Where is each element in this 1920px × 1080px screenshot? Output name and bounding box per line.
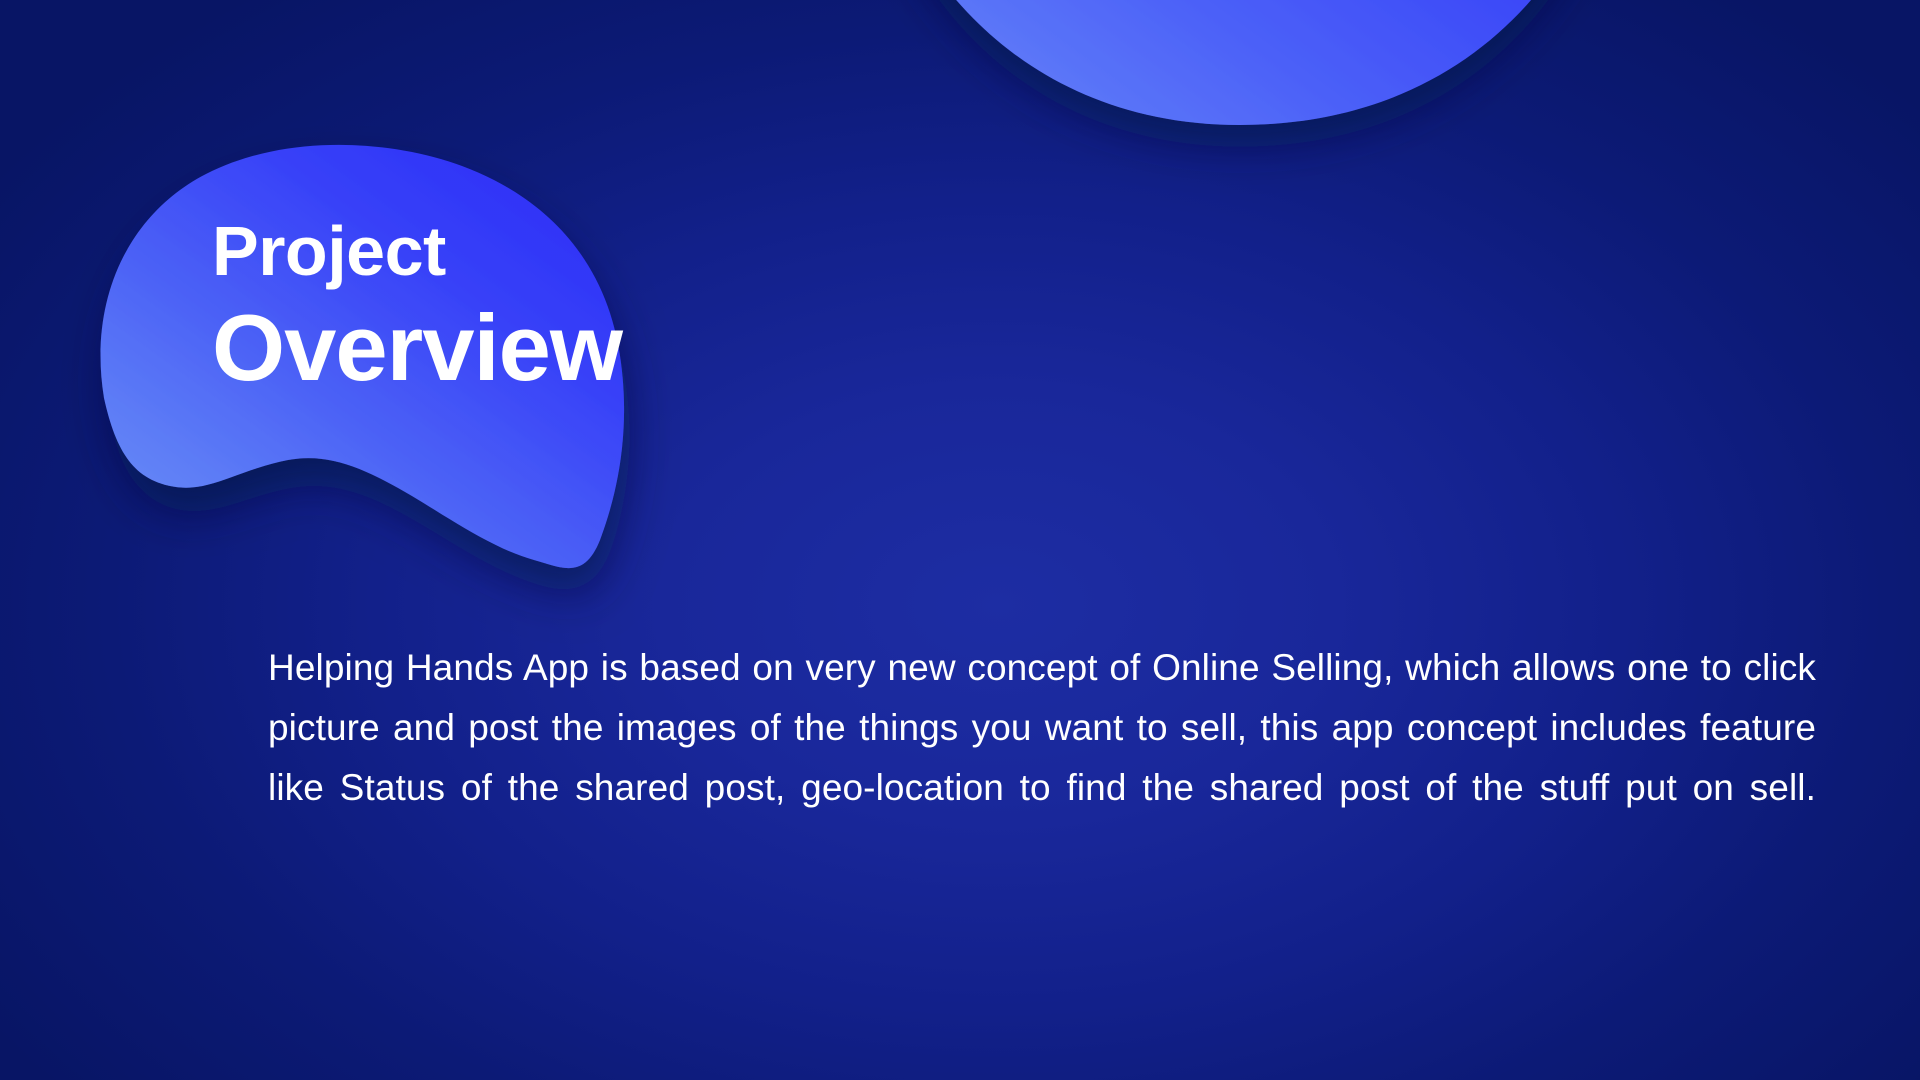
decorative-shapes-svg [0,0,1920,1080]
body-paragraph: Helping Hands App is based on very new c… [268,638,1816,878]
slide-canvas: Project Overview Helping Hands App is ba… [0,0,1920,1080]
page-title-line-1: Project [212,216,622,286]
top-circle-blob [860,0,1625,125]
page-title-line-2: Overview [212,300,622,396]
title-block: Project Overview [212,216,622,396]
decorative-shapes-layer [0,0,1920,1080]
body-block: Helping Hands App is based on very new c… [268,638,1816,878]
